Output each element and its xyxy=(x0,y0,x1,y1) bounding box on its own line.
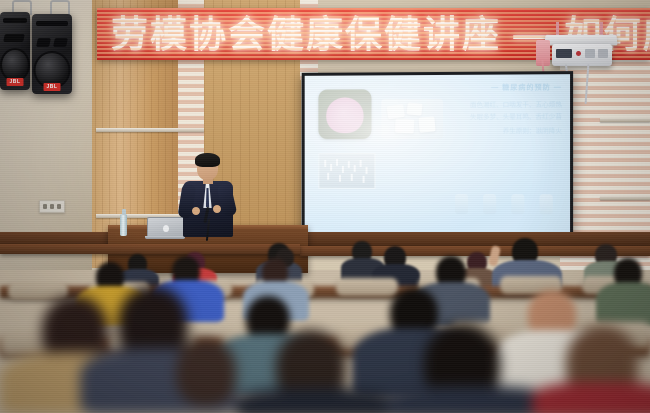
apple-logo-icon xyxy=(163,225,169,232)
speaker-brand-right: JBL xyxy=(44,83,61,91)
foreground-body xyxy=(236,388,396,413)
foreground-body xyxy=(386,386,556,413)
pa-speaker-left: JBL xyxy=(0,12,30,90)
bench-back-left xyxy=(0,244,300,254)
projector xyxy=(552,44,612,66)
photo-scene: JBL JBL 劳模协会健康保健讲座 — 如何应对 xyxy=(0,0,650,413)
speaker-brand-left: JBL xyxy=(7,78,24,86)
wall-outlet[interactable] xyxy=(39,200,65,213)
presenter xyxy=(180,155,236,237)
wall-trim-upper xyxy=(96,128,204,132)
seat-back xyxy=(336,278,398,296)
pa-speaker-right: JBL xyxy=(32,14,72,94)
projection-screen: — 糖尿病的预防 — 面色潮红、口咽发干、五心烦热 失眠多梦、头晕耳鸣、舌红少苔… xyxy=(305,74,570,237)
projection-screen-frame: — 糖尿病的预防 — 面色潮红、口咽发干、五心烦热 失眠多梦、头晕耳鸣、舌红少苔… xyxy=(302,71,573,240)
audience-body xyxy=(596,282,650,326)
speaker-bracket-right xyxy=(50,0,70,15)
foreground-head xyxy=(176,338,236,406)
seat-back xyxy=(8,282,68,300)
wall-trim-right-upper xyxy=(600,118,650,122)
wall-trim-right-lower xyxy=(600,196,650,200)
presenter-laptop xyxy=(145,217,185,239)
foreground-body xyxy=(532,382,650,413)
water-bottle xyxy=(120,214,127,236)
